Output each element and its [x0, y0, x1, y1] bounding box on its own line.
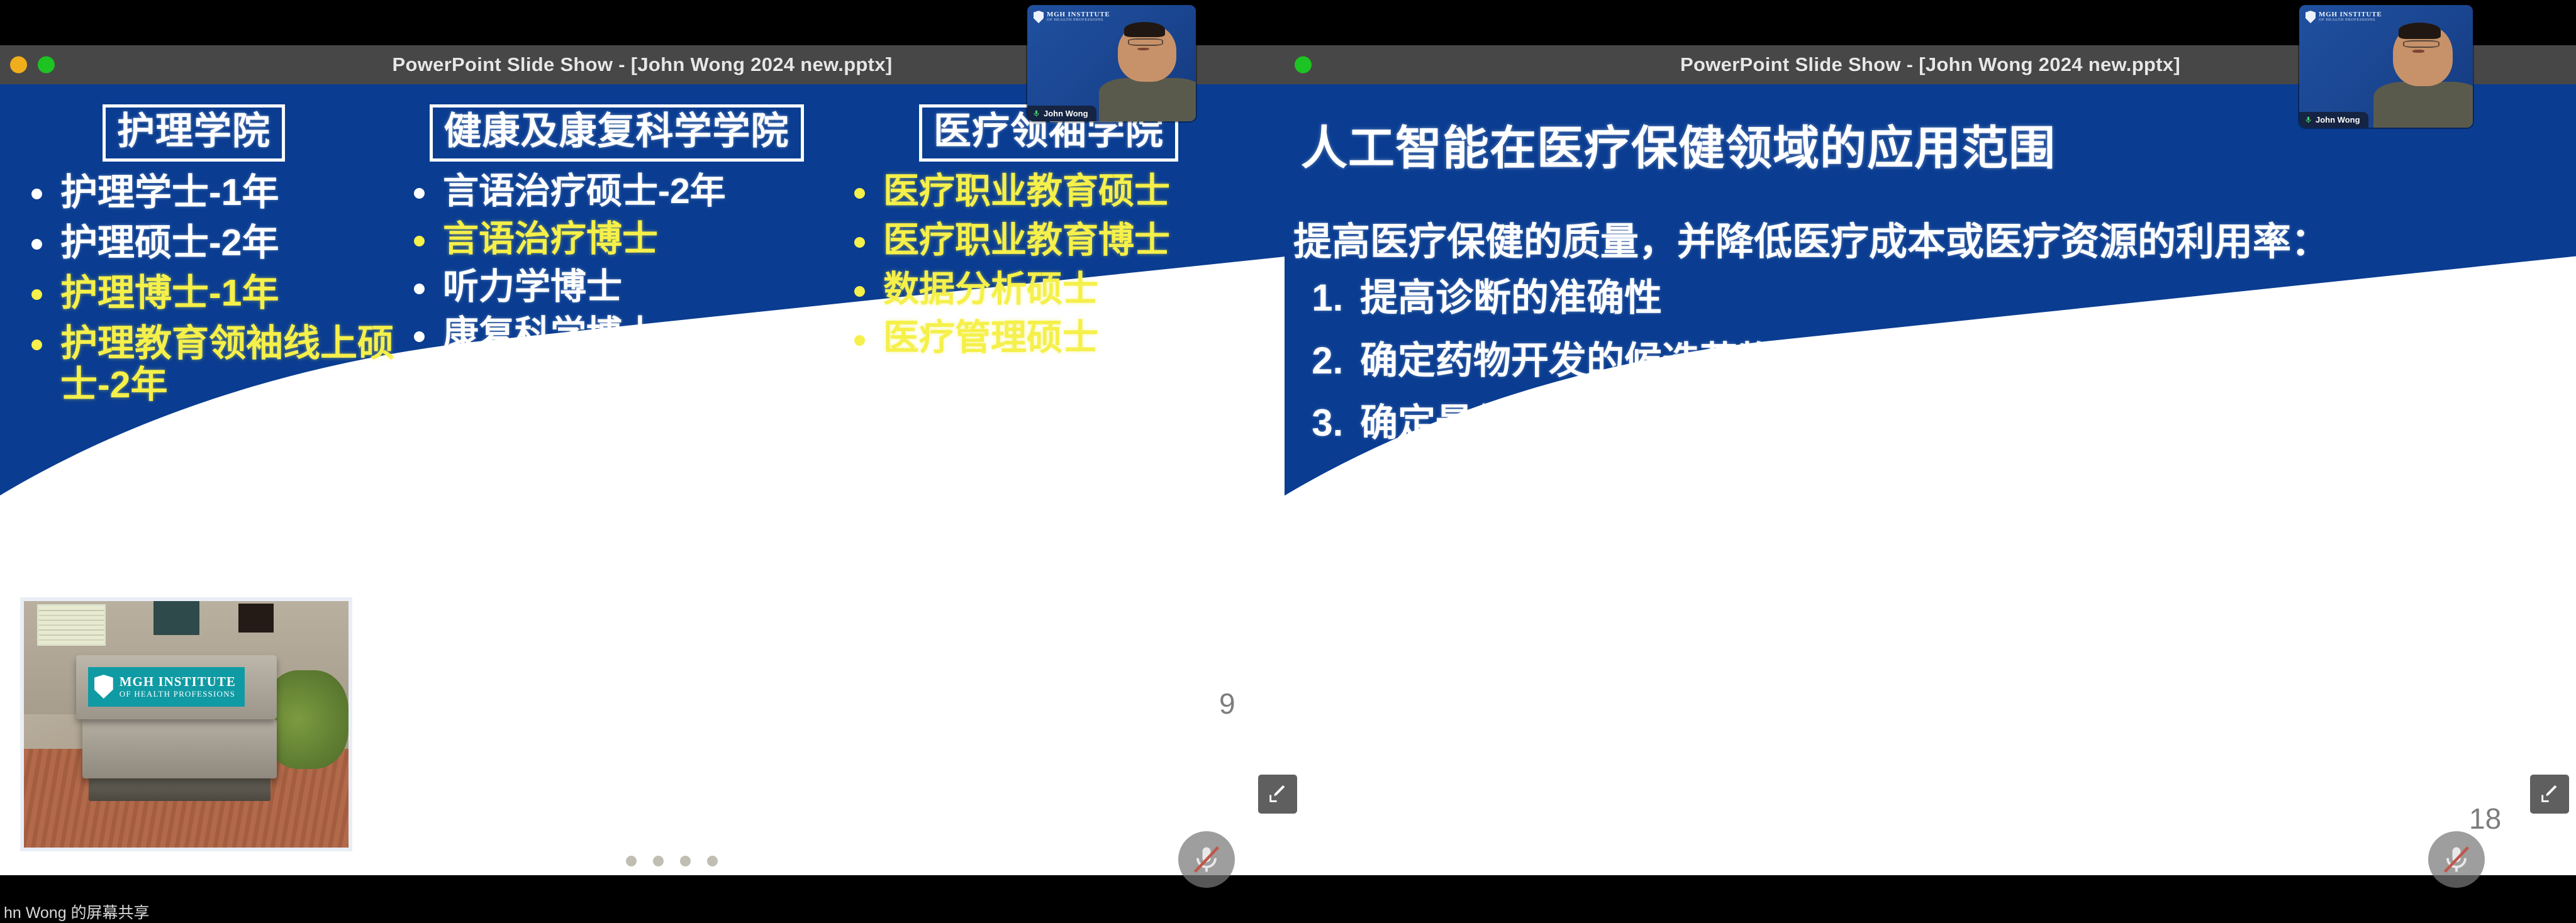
list-item: 作业治疗博士 — [396, 458, 837, 498]
photo-window — [37, 604, 106, 646]
progress-dot[interactable] — [680, 856, 691, 866]
photo-door — [153, 601, 199, 635]
list-item: 言语治疗硕士-2年 — [396, 172, 837, 212]
microphone-muted-icon — [2440, 843, 2473, 876]
column-2-heading-wrap: 健康及康复科学学院 — [396, 104, 837, 162]
maximize-button[interactable] — [1295, 57, 1312, 74]
list-item: 言语治疗博士 — [396, 219, 837, 260]
webcam-logo-text: MGH INSTITUTE OF HEALTH PROFESSIONS — [1047, 11, 1110, 23]
list-item: 医疗职业教育硕士 — [837, 172, 1277, 212]
slide-title-right: 人工智能在医疗保健领域的应用范围 — [1301, 111, 2056, 178]
list-item: 提高诊断的准确性 — [1354, 267, 1775, 329]
plaque-line1: MGH INSTITUTE — [120, 675, 236, 689]
webcam-tile-right[interactable]: MGH INSTITUTE OF HEALTH PROFESSIONS John… — [2299, 5, 2473, 128]
list-item: 康复科学博士 — [396, 314, 837, 355]
participant-head — [2393, 25, 2453, 86]
slide-lead-text: 提高医疗保健的质量，并降低医疗成本或医疗资源的利用率： — [1293, 210, 2329, 266]
shield-icon — [1034, 11, 1044, 23]
powerpoint-window-right[interactable]: PowerPoint Slide Show - [John Wong 2024 … — [1285, 45, 2576, 875]
photo-plaque: MGH INSTITUTE OF HEALTH PROFESSIONS — [88, 667, 245, 707]
column-health-rehab: 健康及康复科学学院 言语治疗硕士-2年 言语治疗博士 听力学博士 康复科学博士 … — [396, 104, 837, 553]
participant-mouth — [2412, 50, 2424, 53]
webcam-logo-right: MGH INSTITUTE OF HEALTH PROFESSIONS — [2306, 11, 2382, 23]
column-nursing: 护理学院 护理学士-1年 护理硕士-2年 护理博士-1年 护理教育领袖线上硕士-… — [0, 104, 396, 553]
microphone-icon — [2304, 116, 2312, 124]
window-title-left: PowerPoint Slide Show - [John Wong 2024 … — [393, 53, 893, 76]
screen-share-status: hn Wong 的屏幕共享 — [4, 900, 150, 923]
list-item: 护理博士-1年 — [14, 272, 396, 314]
progress-dot[interactable] — [626, 856, 637, 866]
list-item: 确定最佳的治疗方法 — [1354, 392, 1775, 455]
participant-glasses — [1128, 38, 1163, 46]
slide-columns: 护理学院 护理学士-1年 护理硕士-2年 护理博士-1年 护理教育领袖线上硕士-… — [0, 104, 1285, 553]
participant-hair — [2399, 23, 2441, 38]
list-item: 医疗职业教育博士 — [837, 221, 1277, 261]
minimize-button[interactable] — [10, 57, 27, 74]
maximize-button[interactable] — [38, 57, 55, 74]
list-item: 医疗管理硕士 — [837, 318, 1277, 358]
microphone-mute-button-left[interactable] — [1178, 831, 1235, 888]
column-health-leadership: 医疗领袖学院 医疗职业教育硕士 医疗职业教育博士 数据分析硕士 医疗管理硕士 — [837, 104, 1277, 553]
microphone-muted-icon — [1190, 843, 1223, 876]
powerpoint-window-left[interactable]: PowerPoint Slide Show - [John Wong 2024 … — [0, 45, 1285, 875]
slide-left[interactable]: 护理学院 护理学士-1年 护理硕士-2年 护理博士-1年 护理教育领袖线上硕士-… — [0, 84, 1285, 875]
photo-stone-top: MGH INSTITUTE OF HEALTH PROFESSIONS — [76, 655, 277, 719]
slide-right[interactable]: 人工智能在医疗保健领域的应用范围 提高医疗保健的质量，并降低医疗成本或医疗资源的… — [1285, 84, 2576, 875]
logo-line2: OF HEALTH PROFESSIONS — [2319, 18, 2382, 23]
traffic-lights-left — [10, 57, 55, 74]
list-item: 护理硕士-2年 — [14, 222, 396, 263]
webcam-participant-video — [2379, 25, 2473, 128]
webcam-nameplate-right: John Wong — [2299, 112, 2368, 128]
list-item: 物理治疗博士 — [396, 410, 837, 450]
participant-head — [1118, 24, 1176, 82]
window-title-right: PowerPoint Slide Show - [John Wong 2024 … — [1680, 53, 2180, 76]
photo-door-secondary — [238, 604, 274, 633]
slide-number-right: 18 — [2469, 802, 2501, 836]
annotation-pen-button-right[interactable] — [2530, 775, 2569, 814]
screen-root: PowerPoint Slide Show - [John Wong 2024 … — [0, 0, 2576, 920]
plaque-line2: OF HEALTH PROFESSIONS — [120, 690, 236, 699]
photo-stone-middle — [82, 719, 277, 778]
annotation-pen-button-left[interactable] — [1258, 775, 1297, 814]
webcam-tile-left[interactable]: MGH INSTITUTE OF HEALTH PROFESSIONS John… — [1027, 5, 1196, 121]
participant-glasses — [2403, 40, 2439, 48]
pen-icon — [2539, 783, 2560, 805]
shield-icon — [2306, 11, 2316, 23]
list-item: 听力学博士 — [396, 267, 837, 307]
shield-icon — [94, 675, 113, 699]
list-item: 数据分析硕士 — [837, 270, 1277, 310]
participant-mouth — [1137, 48, 1149, 51]
photo-plaque-text: MGH INSTITUTE OF HEALTH PROFESSIONS — [120, 675, 236, 698]
progress-dot[interactable] — [707, 856, 718, 866]
list-item: 确定药物开发的候选药物 — [1354, 329, 1775, 392]
column-1-heading-wrap: 护理学院 — [14, 104, 396, 162]
program-list-nursing: 护理学士-1年 护理硕士-2年 护理博士-1年 护理教育领袖线上硕士-2年 — [14, 172, 396, 406]
pen-icon — [1267, 783, 1288, 805]
school-heading-nursing: 护理学院 — [103, 104, 285, 162]
program-list-health-leadership: 医疗职业教育硕士 医疗职业教育博士 数据分析硕士 医疗管理硕士 — [837, 172, 1277, 358]
program-list-health-rehab: 言语治疗硕士-2年 言语治疗博士 听力学博士 康复科学博士 基因辅导硕士 物理治… — [396, 172, 837, 546]
logo-line2: OF HEALTH PROFESSIONS — [1047, 18, 1110, 23]
participant-name: John Wong — [1044, 109, 1088, 118]
progress-dot[interactable] — [653, 856, 664, 866]
slide-progress-dots-left[interactable] — [599, 856, 718, 866]
list-item: 基因辅导硕士 — [396, 362, 837, 402]
school-heading-health-rehab: 健康及康复科学学院 — [430, 104, 804, 162]
slide-numbered-list: 提高诊断的准确性 确定药物开发的候选药物 确定最佳的治疗方法 — [1317, 267, 1775, 455]
slide-number-left: 9 — [1219, 687, 1235, 721]
list-item: 医生助理硕士 — [396, 506, 837, 546]
microphone-mute-button-right[interactable] — [2428, 831, 2485, 888]
traffic-lights-right — [1295, 57, 1312, 74]
list-item: 护理学士-1年 — [14, 172, 396, 213]
participant-torso — [2373, 82, 2473, 128]
campus-photo: MGH INSTITUTE OF HEALTH PROFESSIONS — [20, 597, 352, 851]
participant-torso — [1099, 78, 1196, 121]
webcam-participant-video — [1105, 24, 1196, 121]
microphone-icon — [1032, 109, 1040, 118]
webcam-nameplate-left: John Wong — [1027, 106, 1096, 121]
list-item: 护理教育领袖线上硕士-2年 — [14, 323, 396, 406]
webcam-logo-text: MGH INSTITUTE OF HEALTH PROFESSIONS — [2319, 11, 2382, 23]
webcam-logo-left: MGH INSTITUTE OF HEALTH PROFESSIONS — [1034, 11, 1110, 23]
participant-name: John Wong — [2316, 115, 2360, 124]
participant-hair — [1124, 22, 1165, 37]
progress-dot[interactable] — [599, 856, 610, 866]
